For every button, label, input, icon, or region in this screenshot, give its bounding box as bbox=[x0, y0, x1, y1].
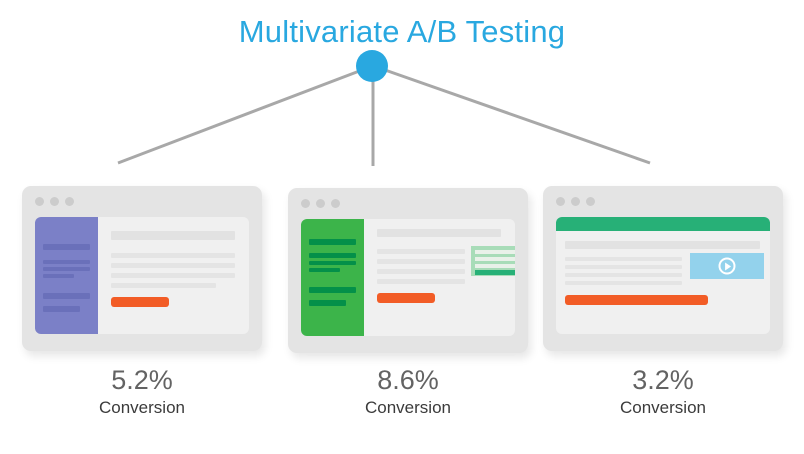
sidebar-placeholder-line bbox=[309, 300, 346, 306]
window-dot-yellow bbox=[50, 197, 59, 206]
content-heading-line bbox=[377, 229, 501, 237]
sidebar-placeholder-line bbox=[309, 268, 340, 272]
sidebar-placeholder-line bbox=[309, 287, 356, 293]
infographic-canvas: Multivariate A/B Testing bbox=[0, 0, 804, 454]
conversion-value: 3.2% bbox=[543, 364, 783, 396]
branch-connectors bbox=[0, 0, 804, 190]
content-text-line bbox=[377, 249, 465, 254]
conversion-label: Conversion bbox=[22, 397, 262, 419]
variant-a-metric: 5.2% Conversion bbox=[22, 364, 262, 419]
variant-c-viewport bbox=[556, 217, 770, 334]
variant-b-sidebar bbox=[301, 219, 364, 336]
variant-a-sidebar bbox=[35, 217, 98, 334]
variant-b-metric: 8.6% Conversion bbox=[288, 364, 528, 419]
variant-a-cta-button[interactable] bbox=[111, 297, 169, 307]
form-input-field[interactable] bbox=[475, 250, 515, 254]
window-dot-red bbox=[301, 199, 310, 208]
play-triangle-icon bbox=[725, 262, 731, 270]
variant-card-c[interactable] bbox=[543, 186, 783, 351]
variant-b-viewport bbox=[301, 219, 515, 336]
connector-line-left bbox=[118, 70, 362, 163]
variant-c-content bbox=[556, 217, 770, 334]
window-dot-yellow bbox=[571, 197, 580, 206]
conversion-label: Conversion bbox=[288, 397, 528, 419]
window-dot-green bbox=[586, 197, 595, 206]
variant-c-cta-button[interactable] bbox=[565, 295, 708, 305]
sidebar-placeholder-line bbox=[43, 260, 90, 264]
content-text-line bbox=[377, 259, 465, 264]
content-text-line bbox=[111, 283, 216, 288]
conversion-label: Conversion bbox=[543, 397, 783, 419]
sidebar-placeholder-line bbox=[309, 239, 356, 245]
form-input-field[interactable] bbox=[475, 264, 515, 268]
content-text-line bbox=[565, 257, 682, 261]
content-text-line bbox=[565, 281, 682, 285]
variant-b-cta-button[interactable] bbox=[377, 293, 435, 303]
variant-b-content bbox=[364, 219, 515, 336]
window-dots bbox=[301, 199, 340, 208]
content-text-line bbox=[565, 265, 682, 269]
play-icon[interactable] bbox=[719, 258, 736, 275]
window-dot-red bbox=[556, 197, 565, 206]
root-node-circle bbox=[356, 50, 388, 82]
video-player-widget[interactable] bbox=[690, 253, 764, 279]
variant-a-viewport bbox=[35, 217, 249, 334]
window-dots bbox=[35, 197, 74, 206]
signup-form-widget[interactable] bbox=[471, 246, 515, 276]
content-text-line bbox=[111, 253, 235, 258]
sidebar-placeholder-line bbox=[43, 267, 90, 271]
sidebar-placeholder-line bbox=[43, 293, 90, 299]
variant-card-b[interactable] bbox=[288, 188, 528, 353]
content-text-line bbox=[111, 263, 235, 268]
variant-a-content bbox=[98, 217, 249, 334]
content-text-line bbox=[111, 273, 235, 278]
conversion-value: 8.6% bbox=[288, 364, 528, 396]
sidebar-placeholder-line bbox=[309, 253, 356, 258]
sidebar-placeholder-line bbox=[43, 306, 80, 312]
conversion-value: 5.2% bbox=[22, 364, 262, 396]
form-submit-button[interactable] bbox=[475, 270, 515, 275]
content-text-line bbox=[565, 273, 682, 277]
content-heading-line bbox=[111, 231, 235, 240]
sidebar-placeholder-line bbox=[43, 274, 74, 278]
window-dot-green bbox=[65, 197, 74, 206]
connector-line-right bbox=[385, 70, 650, 163]
content-heading-line bbox=[565, 241, 760, 249]
content-text-line bbox=[377, 279, 465, 284]
window-dot-red bbox=[35, 197, 44, 206]
variant-c-metric: 3.2% Conversion bbox=[543, 364, 783, 419]
content-text-line bbox=[377, 269, 465, 274]
sidebar-placeholder-line bbox=[43, 244, 90, 250]
window-dot-yellow bbox=[316, 199, 325, 208]
sidebar-placeholder-line bbox=[309, 261, 356, 265]
window-dot-green bbox=[331, 199, 340, 208]
window-dots bbox=[556, 197, 595, 206]
variant-card-a[interactable] bbox=[22, 186, 262, 351]
form-input-field[interactable] bbox=[475, 257, 515, 261]
